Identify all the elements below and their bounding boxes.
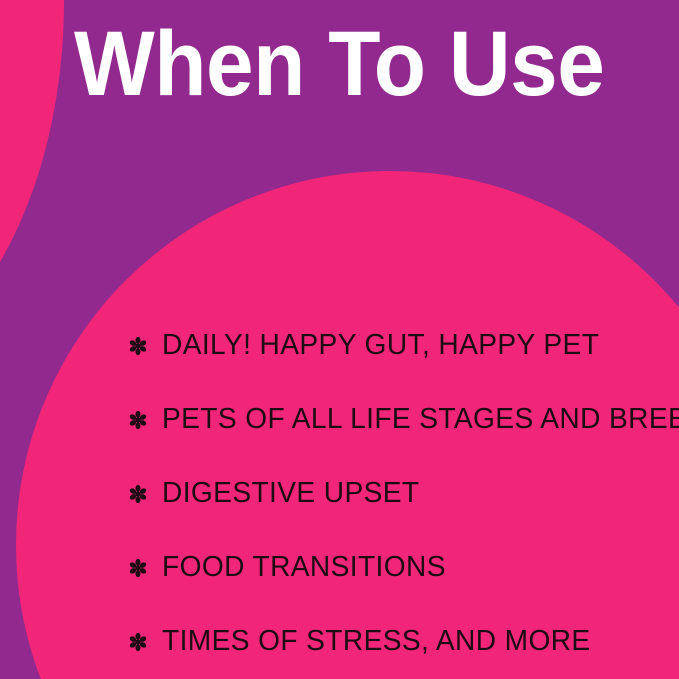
flower-asterisk-icon [128,558,148,578]
page-title: When To Use [74,18,604,110]
flower-asterisk-icon [128,632,148,652]
list-item-label: FOOD TRANSITIONS [162,553,446,582]
list-item: TIMES OF STRESS, AND MORE [128,604,668,678]
flower-asterisk-icon [128,410,148,430]
when-to-use-poster: When To Use DAILY! HAPPY GUT, HAP [0,0,679,679]
list-item: PETS OF ALL LIFE STAGES AND BREEDS [128,382,668,456]
list-item: DIGESTIVE UPSET [128,456,668,530]
list-item: DAILY! HAPPY GUT, HAPPY PET [128,308,668,382]
list-item: FOOD TRANSITIONS [128,530,668,604]
flower-asterisk-icon [128,484,148,504]
page-title-container: When To Use [0,18,679,110]
list-item-label: DAILY! HAPPY GUT, HAPPY PET [162,331,599,360]
list-item-label: DIGESTIVE UPSET [162,479,419,508]
list-item-label: TIMES OF STRESS, AND MORE [162,627,591,656]
usage-list: DAILY! HAPPY GUT, HAPPY PET PETS OF AL [128,308,668,678]
list-item-label: PETS OF ALL LIFE STAGES AND BREEDS [162,405,679,434]
flower-asterisk-icon [128,336,148,356]
